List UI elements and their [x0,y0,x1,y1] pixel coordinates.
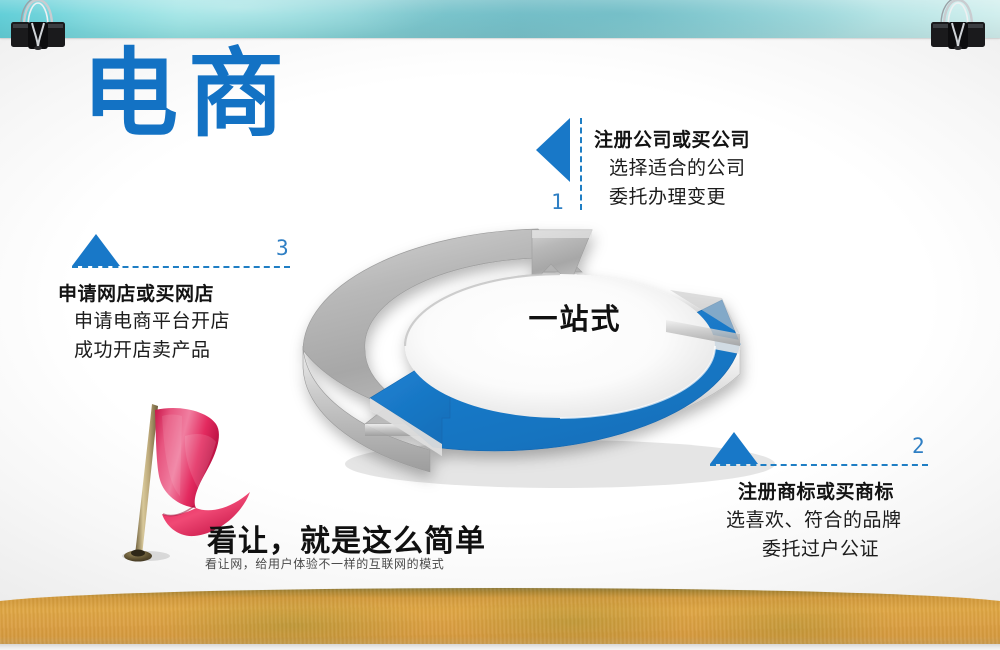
step-title-1: 注册公司或买公司 [594,125,750,152]
slogan-text: 看让，就是这么简单 [207,516,486,560]
step-line2-3: 成功开店卖产品 [74,335,211,362]
connector-dash-horizontal [72,266,290,268]
page-title: 电商 [82,46,294,142]
step-number-2: 2 [912,434,925,458]
bottom-edge-strip [0,644,1000,650]
step-title-2: 注册商标或买商标 [738,477,894,504]
center-label: 一站式 [495,296,655,338]
step-number-3: 3 [276,236,289,260]
step-line1-3: 申请电商平台开店 [74,306,230,333]
step-line2-2: 委托过户公证 [762,534,879,561]
top-teal-band [0,0,1000,38]
connector-dash-vertical [580,118,582,210]
step-number-1: 1 [551,190,564,214]
step-line1-1: 选择适合的公司 [609,153,746,180]
slogan-subtext: 看让网，给用户体验不一样的互联网的模式 [205,555,444,572]
triangle-up-icon [710,432,758,464]
triangle-left-icon [536,118,570,182]
connector-dash-horizontal [710,464,928,466]
triangle-up-icon [72,234,120,266]
step-line2-1: 委托办理变更 [609,182,726,209]
step-title-3: 申请网店或买网店 [58,279,214,306]
poster-canvas: 电商 [0,0,1000,650]
bottom-wheat-band [0,588,1000,650]
step-line1-2: 选喜欢、符合的品牌 [726,505,902,532]
binder-clip-right-icon [928,0,988,50]
binder-clip-left-icon [8,0,68,50]
